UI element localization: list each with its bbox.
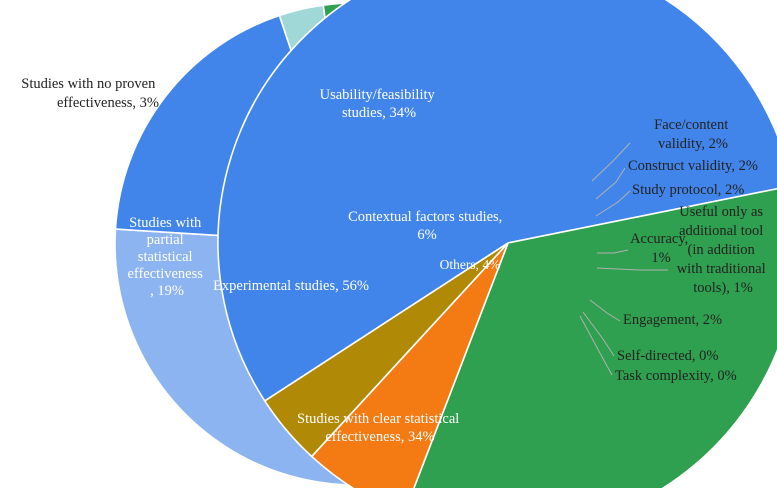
label-studies-no-proven: Studies with no proven effectiveness, 3%	[21, 76, 159, 111]
pie-chart-figure: Studies with clear statistical effective…	[0, 0, 777, 488]
label-experimental-studies: Experimental studies, 56%	[213, 278, 369, 294]
label-engagement: Engagement, 2%	[623, 312, 722, 328]
label-others: Others, 4%	[440, 257, 501, 272]
label-construct-validity: Construct validity, 2%	[628, 158, 758, 174]
label-self-directed: Self-directed, 0%	[617, 348, 718, 364]
label-task-complexity: Task complexity, 0%	[615, 368, 737, 384]
label-study-protocol: Study protocol, 2%	[632, 182, 744, 198]
nested-pie-chart: Studies with clear statistical effective…	[0, 0, 777, 488]
